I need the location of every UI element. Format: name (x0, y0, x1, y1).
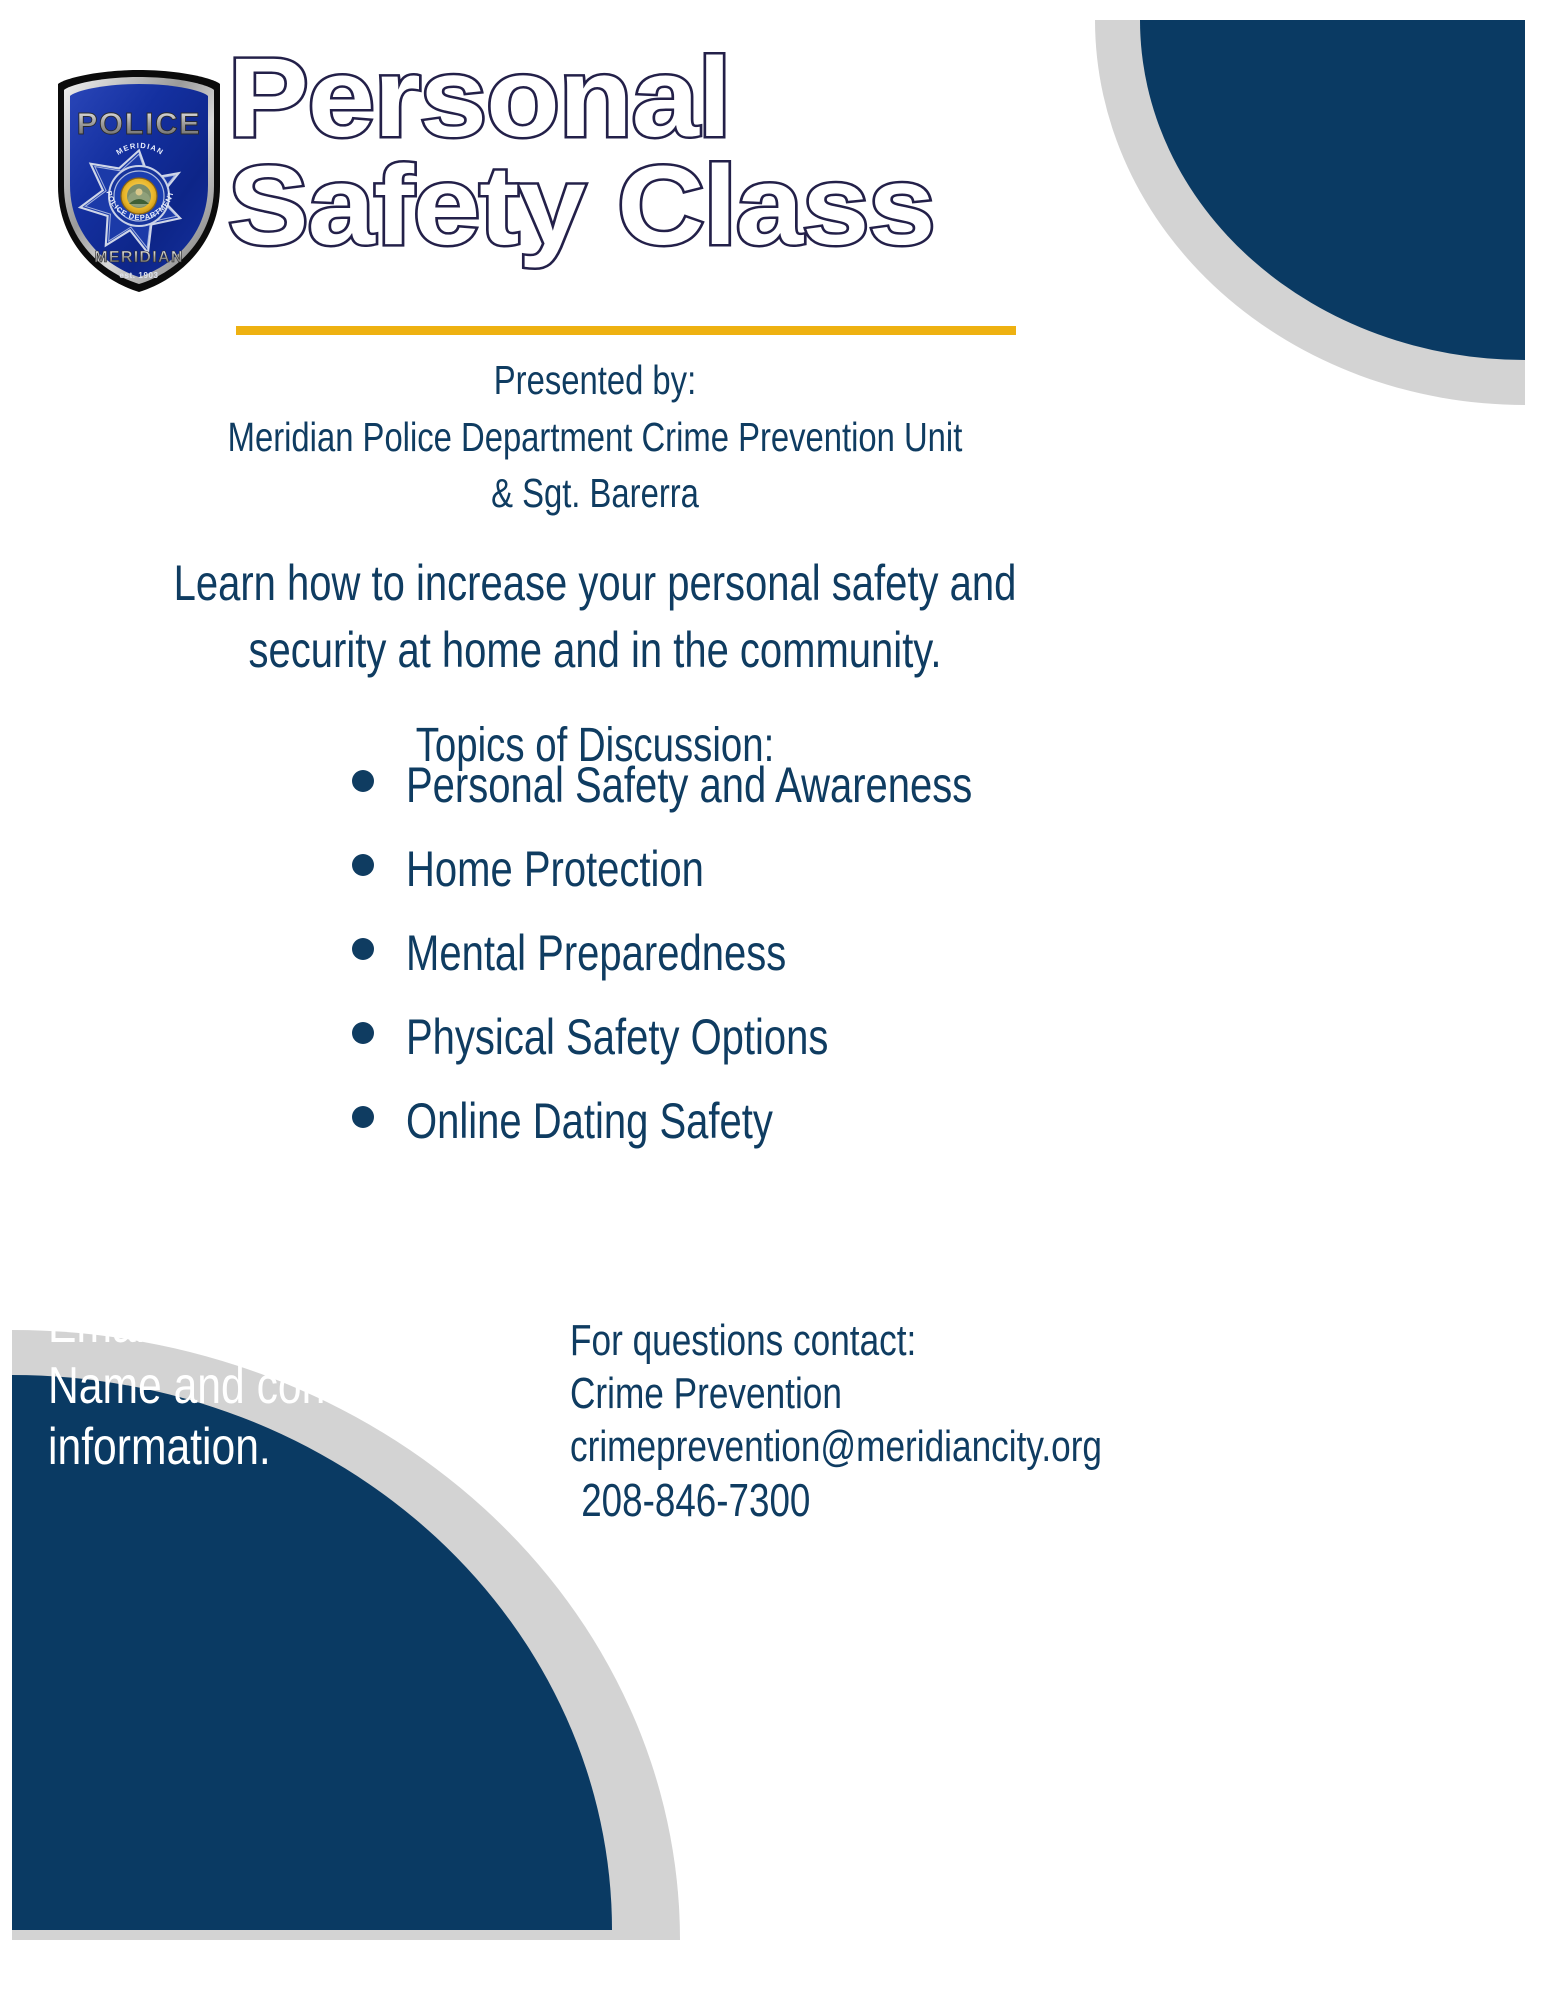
interest-line-5: information. (48, 1417, 433, 1478)
interest-line-3: Email with your (48, 1295, 433, 1356)
lede-line-1: Learn how to increase your personal safe… (119, 550, 1071, 618)
list-item: Home Protection (352, 844, 1114, 928)
bullet-dot-icon (352, 1022, 374, 1044)
interest-line-2: forming: (48, 1233, 433, 1294)
list-item: Personal Safety and Awareness (352, 760, 1114, 844)
topic-label: Online Dating Safety (406, 1096, 773, 1146)
topic-label: Mental Preparedness (406, 928, 786, 978)
interest-line-1: Interest List (48, 1172, 433, 1233)
gold-divider-rule (236, 326, 1016, 335)
presented-by-label: Presented by: (119, 352, 1071, 409)
list-item: Online Dating Safety (352, 1096, 1114, 1180)
contact-section: For questions contact: Crime Prevention … (570, 1315, 1235, 1529)
contact-phone[interactable]: 208-846-7300 (570, 1473, 1102, 1528)
svg-text:est. 1903: est. 1903 (119, 271, 158, 280)
presenter-person: & Sgt. Barerra (119, 465, 1071, 522)
intro-section: Presented by: Meridian Police Department… (0, 352, 1190, 777)
svg-text:POLICE: POLICE (77, 106, 201, 141)
police-badge-icon: POLICE MERIDIAN POLICE DEPARTMENT MERIDI… (52, 66, 227, 296)
lede-line-2: security at home and in the community. (119, 617, 1071, 685)
title-line-1: Personal (228, 44, 1092, 152)
bullet-dot-icon (352, 938, 374, 960)
svg-text:MERIDIAN: MERIDIAN (94, 249, 184, 266)
contact-unit: Crime Prevention (570, 1368, 1102, 1421)
list-item: Mental Preparedness (352, 928, 1114, 1012)
bullet-dot-icon (352, 770, 374, 792)
top-right-blue-arc (1140, 20, 1525, 360)
topic-label: Personal Safety and Awareness (406, 760, 972, 810)
contact-email[interactable]: crimeprevention@meridiancity.org (570, 1421, 1102, 1474)
bullet-dot-icon (352, 854, 374, 876)
presenter-organization: Meridian Police Department Crime Prevent… (119, 409, 1071, 466)
contact-heading: For questions contact: (570, 1315, 1102, 1368)
flyer-page: POLICE MERIDIAN POLICE DEPARTMENT MERIDI… (0, 0, 1545, 2000)
interest-line-4: Name and contact (48, 1356, 433, 1417)
bullet-dot-icon (352, 1106, 374, 1128)
interest-list-callout: Interest List forming: Email with your N… (48, 1172, 518, 1479)
flyer-title: Personal Safety Class (228, 44, 1028, 259)
topic-label: Physical Safety Options (406, 1012, 828, 1062)
list-item: Physical Safety Options (352, 1012, 1114, 1096)
topics-list: Personal Safety and Awareness Home Prote… (352, 760, 1114, 1180)
title-line-2: Safety Class (228, 152, 1092, 260)
topic-label: Home Protection (406, 844, 704, 894)
